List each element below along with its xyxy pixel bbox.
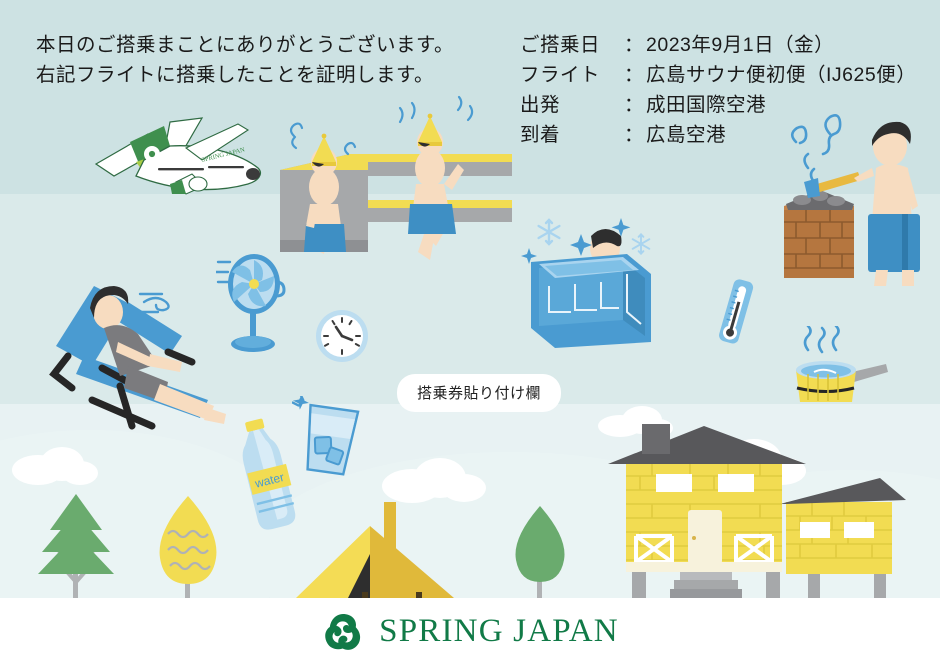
flight-info-value-departure: 成田国際空港 bbox=[646, 90, 766, 120]
deck-chair-lounger-scene bbox=[32, 250, 242, 430]
electric-fan-icon bbox=[216, 248, 296, 358]
thanks-message: 本日のご搭乗まことにありがとうございます。 右記フライトに搭乗したことを証明しま… bbox=[36, 30, 506, 90]
boarding-pass-slot-label: 搭乗券貼り付け欄 bbox=[417, 385, 541, 402]
cloud-center bbox=[380, 452, 490, 504]
brand-logo: SPRING JAPAN bbox=[0, 605, 940, 657]
sauna-bucket-icon bbox=[782, 326, 892, 404]
cloud-left bbox=[10, 440, 100, 486]
tree-conifer-right bbox=[500, 500, 580, 600]
flight-info-colon-arrival: ： bbox=[624, 120, 646, 150]
flight-info-value-date: 2023年9月1日（金） bbox=[646, 30, 834, 60]
camping-tent-icon bbox=[288, 498, 468, 598]
flight-info-colon-flight: ： bbox=[624, 60, 646, 90]
sauna-stove-loyly-scene bbox=[762, 110, 940, 290]
sauna-cabin-illustration bbox=[600, 412, 940, 602]
flight-info-label-flight: フライト bbox=[520, 60, 624, 90]
flight-info-value-flight: 広島サウナ便初便（IJ625便） bbox=[646, 60, 916, 90]
boarding-certificate-page: 本日のご搭乗まことにありがとうございます。 右記フライトに搭乗したことを証明しま… bbox=[0, 0, 940, 663]
tree-round-yellow bbox=[148, 492, 228, 600]
cold-plunge-tub bbox=[505, 200, 675, 350]
flight-info-label-arrival: 到着 bbox=[520, 120, 624, 150]
brand-name: SPRING JAPAN bbox=[379, 613, 619, 650]
iced-glass-icon bbox=[292, 396, 366, 482]
flight-info-value-arrival: 広島空港 bbox=[646, 120, 726, 150]
flight-info-label-departure: 出発 bbox=[520, 90, 624, 120]
boarding-pass-slot[interactable]: 搭乗券貼り付け欄 bbox=[397, 374, 561, 412]
flight-info-row-flight: フライト ： 広島サウナ便初便（IJ625便） bbox=[520, 60, 916, 90]
thermometer-icon bbox=[714, 276, 762, 348]
flight-info-colon-date: ： bbox=[624, 30, 646, 60]
spring-japan-spiral-icon bbox=[321, 610, 365, 652]
wall-clock-icon bbox=[314, 308, 370, 364]
airplane-icon: SPRING JAPAN bbox=[52, 104, 272, 196]
thanks-line-2: 右記フライトに搭乗したことを証明します。 bbox=[36, 60, 506, 90]
sauna-bench-scene bbox=[272, 92, 512, 262]
flight-info-label-date: ご搭乗日 bbox=[520, 30, 624, 60]
flight-info-row-date: ご搭乗日 ： 2023年9月1日（金） bbox=[520, 30, 916, 60]
thanks-line-1: 本日のご搭乗まことにありがとうございます。 bbox=[36, 30, 506, 60]
flight-info-colon-departure: ： bbox=[624, 90, 646, 120]
snowflake-icon bbox=[512, 218, 513, 219]
tree-conifer-left bbox=[30, 490, 122, 600]
